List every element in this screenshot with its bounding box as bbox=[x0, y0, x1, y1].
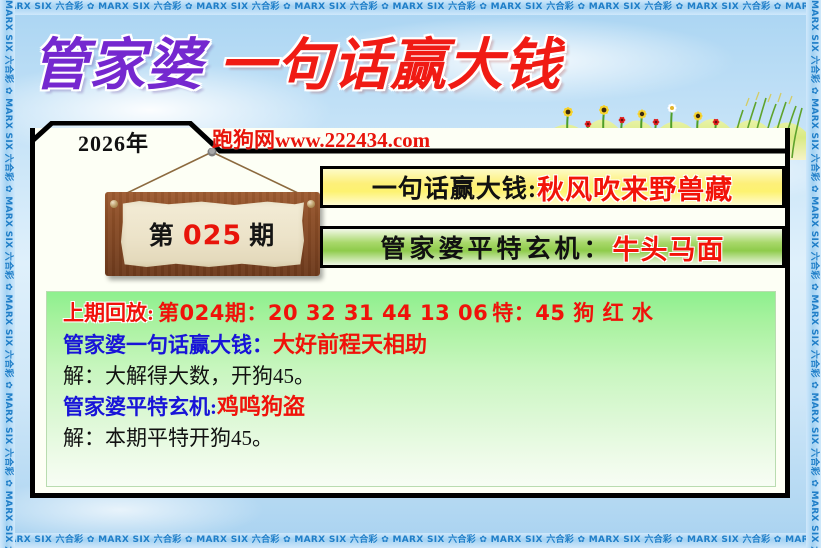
site-url-label: 跑狗网www.222434.com bbox=[212, 124, 430, 154]
entry-0-value: 大好前程天相助 bbox=[273, 332, 427, 357]
screw-icon-left bbox=[110, 200, 118, 208]
recap-issue: 第024期： bbox=[158, 301, 268, 325]
border-strip-left: MARX SIX 六合彩 ✿ MARX SIX 六合彩 ✿ MARX SIX 六… bbox=[0, 0, 15, 548]
recap-special-label: 特： bbox=[492, 301, 535, 325]
border-strip-right: MARX SIX 六合彩 ✿ MARX SIX 六合彩 ✿ MARX SIX 六… bbox=[806, 0, 821, 548]
entry-1-explain-label: 解： bbox=[63, 426, 105, 450]
entry-0-explain-text: 大解得大数，开狗45。 bbox=[105, 364, 315, 388]
issue-number: 025 bbox=[183, 220, 242, 251]
title-brand: 管家婆 bbox=[32, 24, 203, 108]
entry-1-explanation: 解：本期平特开狗45。 bbox=[63, 427, 759, 450]
year-label: 2026年 bbox=[78, 126, 149, 158]
title-slogan: 一句话赢大钱 bbox=[219, 24, 561, 108]
border-pattern-text-right: MARX SIX 六合彩 ✿ MARX SIX 六合彩 ✿ MARX SIX 六… bbox=[809, 0, 819, 548]
recap-special-value: 45 狗 红 水 bbox=[535, 301, 653, 325]
banner-slogan-green: 管家婆平特玄机：牛头马面 bbox=[320, 226, 785, 268]
border-pattern-text-left: MARX SIX 六合彩 ✿ MARX SIX 六合彩 ✿ MARX SIX 六… bbox=[3, 0, 13, 548]
entry-1-explain-text: 本期平特开狗45。 bbox=[105, 426, 273, 450]
entry-1-label: 管家婆平特玄机: bbox=[63, 395, 217, 419]
previous-draw-recap: 上期回放: 第024期：20 32 31 44 13 06 特：45 狗 红 水 bbox=[63, 302, 759, 325]
border-strip-top: MARX SIX 六合彩 ✿ MARX SIX 六合彩 ✿ MARX SIX 六… bbox=[0, 0, 821, 15]
banner-yellow-value: 秋风吹来野兽藏 bbox=[537, 168, 733, 207]
recap-title: 上期回放: bbox=[63, 301, 154, 325]
recap-numbers: 20 32 31 44 13 06 bbox=[268, 301, 488, 325]
issue-number-text: 第025期 bbox=[121, 216, 304, 252]
entry-0-explain-label: 解： bbox=[63, 364, 105, 388]
issue-prefix: 第 bbox=[149, 223, 176, 250]
banner-green-label: 管家婆平特玄机： bbox=[380, 229, 612, 265]
entry-1-headline: 管家婆平特玄机:鸡鸣狗盗 bbox=[63, 395, 759, 419]
sign-paper: 第025期 bbox=[121, 201, 304, 267]
border-strip-bottom: MARX SIX 六合彩 ✿ MARX SIX 六合彩 ✿ MARX SIX 六… bbox=[0, 533, 821, 548]
border-pattern-text-top: MARX SIX 六合彩 ✿ MARX SIX 六合彩 ✿ MARX SIX 六… bbox=[0, 2, 821, 12]
banner-yellow-label: 一句话赢大钱: bbox=[372, 169, 537, 205]
content-green-box: 上期回放: 第024期：20 32 31 44 13 06 特：45 狗 红 水… bbox=[46, 291, 776, 487]
entry-0-explanation: 解：大解得大数，开狗45。 bbox=[63, 365, 759, 388]
screw-icon-right bbox=[307, 200, 315, 208]
border-pattern-text-bottom: MARX SIX 六合彩 ✿ MARX SIX 六合彩 ✿ MARX SIX 六… bbox=[0, 535, 821, 545]
issue-suffix: 期 bbox=[249, 223, 276, 250]
hanging-issue-sign: 第025期 bbox=[95, 148, 325, 278]
entry-1-value: 鸡鸣狗盗 bbox=[217, 394, 305, 419]
page-title: 管家婆一句话赢大钱 bbox=[32, 24, 672, 108]
entry-0-label: 管家婆一句话赢大钱： bbox=[63, 333, 273, 357]
banner-slogan-yellow: 一句话赢大钱:秋风吹来野兽藏 bbox=[320, 166, 785, 208]
entry-0-headline: 管家婆一句话赢大钱：大好前程天相助 bbox=[63, 333, 759, 357]
sign-board: 第025期 bbox=[105, 192, 320, 276]
banner-green-value: 牛头马面 bbox=[613, 228, 725, 267]
